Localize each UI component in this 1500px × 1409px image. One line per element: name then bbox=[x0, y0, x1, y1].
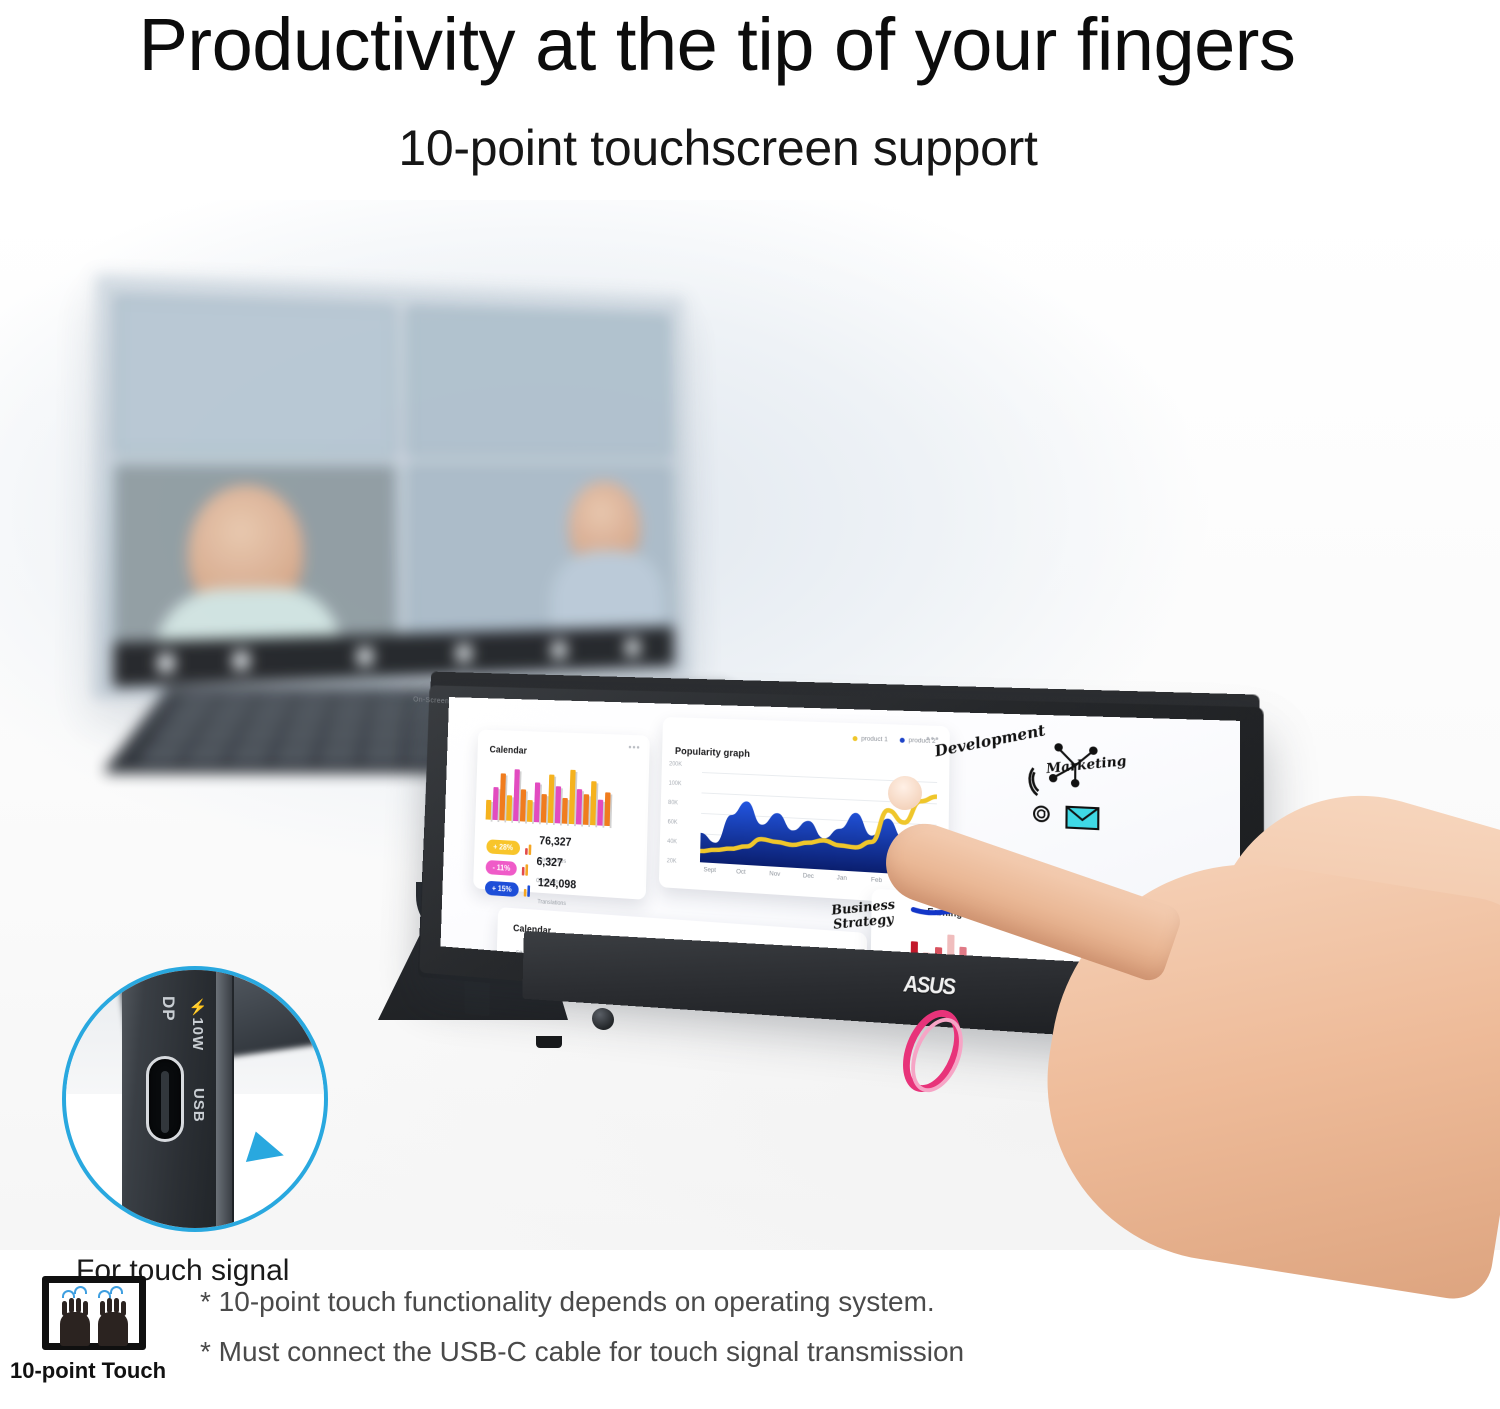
mini-bar bbox=[520, 790, 526, 822]
node-dot bbox=[1054, 743, 1062, 752]
stat-value: 6,327 bbox=[536, 854, 563, 869]
mini-bar bbox=[499, 774, 506, 821]
usb-c-callout: ⚡10W DP USB For touch signal bbox=[62, 966, 342, 1266]
stat-pill: + 15% bbox=[485, 880, 519, 896]
product-marketing-image: Productivity at the tip of your fingers … bbox=[0, 0, 1500, 1409]
calendar-mini-bars bbox=[486, 762, 639, 828]
phone-icon bbox=[1030, 768, 1039, 795]
monitor-foot bbox=[1160, 1000, 1186, 1012]
mini-bar bbox=[513, 769, 520, 821]
stat-value: 76,327 bbox=[539, 834, 572, 849]
card-popularity-graph[interactable]: ••• Popularity graph product 1 product 2… bbox=[659, 717, 950, 906]
displayport-label: DP bbox=[158, 996, 178, 1022]
y-tick-label: 40K bbox=[667, 839, 677, 845]
page-subheadline: 10-point touchscreen support bbox=[0, 118, 1436, 178]
at-icon-inner bbox=[1038, 810, 1045, 818]
node-dot bbox=[1071, 779, 1079, 788]
card-calendar-stats[interactable]: ••• Calendar + 28% 76,327 Direct sales bbox=[473, 729, 650, 899]
badge-label: 10-point Touch bbox=[0, 1358, 176, 1384]
video-tile bbox=[114, 296, 396, 455]
mini-bar bbox=[534, 782, 540, 822]
grouped-bar-chart bbox=[498, 907, 867, 933]
card-title: Calendar bbox=[489, 745, 527, 757]
mini-bar bbox=[604, 792, 610, 826]
legend-label: product 1 bbox=[861, 735, 888, 743]
at-icon bbox=[1034, 806, 1049, 821]
x-tick-label: Oct bbox=[736, 868, 746, 875]
mini-bar bbox=[527, 800, 533, 822]
mini-bar bbox=[583, 794, 589, 825]
mini-bar bbox=[590, 781, 597, 825]
x-axis-labels: 12345678 bbox=[498, 907, 867, 933]
badge-frame bbox=[42, 1276, 146, 1350]
video-tile bbox=[407, 306, 671, 456]
product-2-area bbox=[700, 799, 937, 876]
chart-legend: product 1 product 2 bbox=[852, 735, 935, 745]
callout-circle: ⚡10W DP USB bbox=[62, 966, 328, 1232]
x-axis-labels: SeptOctNovDecJanFebMar bbox=[663, 717, 950, 726]
mini-bar bbox=[569, 770, 576, 824]
portable-monitor: HDMI USB On-Screen Touch ••• Calendar + … bbox=[360, 480, 1260, 1100]
area-chart-plot bbox=[700, 761, 937, 876]
card-title: Popularity graph bbox=[675, 746, 750, 760]
usb-c-port[interactable] bbox=[146, 1056, 184, 1142]
usb-label: USB bbox=[190, 1088, 207, 1123]
touch-ripple bbox=[74, 1286, 87, 1294]
x-tick-label: Sept bbox=[703, 866, 716, 874]
card-menu-icon[interactable]: ••• bbox=[628, 743, 640, 754]
page-headline: Productivity at the tip of your fingers bbox=[0, 2, 1434, 88]
footer-notes: 10-point Touch * 10-point touch function… bbox=[0, 1258, 1500, 1409]
hand-left bbox=[60, 1312, 90, 1346]
product-scene: HDMI USB On-Screen Touch ••• Calendar + … bbox=[0, 200, 1500, 1250]
mini-bar bbox=[576, 789, 582, 825]
asus-logo: ASUS bbox=[903, 970, 954, 1000]
mini-bar bbox=[555, 786, 561, 823]
y-tick-label: 20K bbox=[667, 858, 677, 864]
legend-item-product-1: product 1 bbox=[852, 735, 887, 743]
y-tick-label: 100K bbox=[669, 781, 682, 787]
x-tick-label: Jan bbox=[837, 874, 847, 882]
stat-row: + 15% 124,098 Translations bbox=[485, 870, 577, 910]
envelope-icon bbox=[1066, 807, 1098, 829]
mini-bar bbox=[541, 794, 547, 823]
y-tick-label: 80K bbox=[668, 800, 678, 806]
monitor-foot bbox=[536, 1036, 562, 1048]
x-tick-label: Nov bbox=[769, 870, 780, 878]
legend-item-product-2: product 2 bbox=[900, 737, 936, 745]
stat-value: 124,098 bbox=[538, 876, 577, 892]
monitor-edge-highlight bbox=[216, 966, 232, 1232]
mini-bar bbox=[562, 798, 568, 824]
stat-block: 124,098 Translations bbox=[537, 874, 576, 911]
power-rating-label: ⚡10W bbox=[188, 998, 206, 1051]
mini-bar bbox=[486, 800, 492, 820]
hand-right bbox=[98, 1312, 128, 1346]
footnote-1: * 10-point touch functionality depends o… bbox=[200, 1286, 935, 1318]
y-tick-label: 60K bbox=[668, 819, 678, 825]
mini-bar bbox=[492, 787, 498, 820]
callout-photo: ⚡10W DP USB bbox=[66, 970, 324, 1228]
mini-bar bbox=[597, 800, 603, 826]
monitor-hinge-knob bbox=[592, 1007, 614, 1030]
usb-c-pin bbox=[161, 1071, 169, 1133]
popularity-area-svg bbox=[700, 761, 937, 876]
y-axis-labels: 5040302010 bbox=[498, 907, 867, 933]
blue-arrow-annotation bbox=[909, 862, 1032, 932]
y-tick-label: 200K bbox=[669, 761, 682, 767]
x-tick-label: Feb bbox=[871, 876, 882, 884]
y-axis-labels: 200K100K80K60K40K20K bbox=[663, 717, 950, 726]
footnote-2: * Must connect the USB-C cable for touch… bbox=[200, 1336, 964, 1368]
ten-point-touch-badge-icon bbox=[42, 1276, 146, 1350]
bar-icon bbox=[524, 884, 533, 897]
mini-bar bbox=[506, 796, 512, 821]
stat-label: Translations bbox=[537, 899, 566, 907]
mini-bar bbox=[548, 774, 555, 823]
touch-ripple bbox=[110, 1286, 123, 1294]
gridlines bbox=[498, 907, 867, 933]
legend-label: product 2 bbox=[909, 737, 936, 745]
x-tick-label: Dec bbox=[803, 872, 814, 880]
